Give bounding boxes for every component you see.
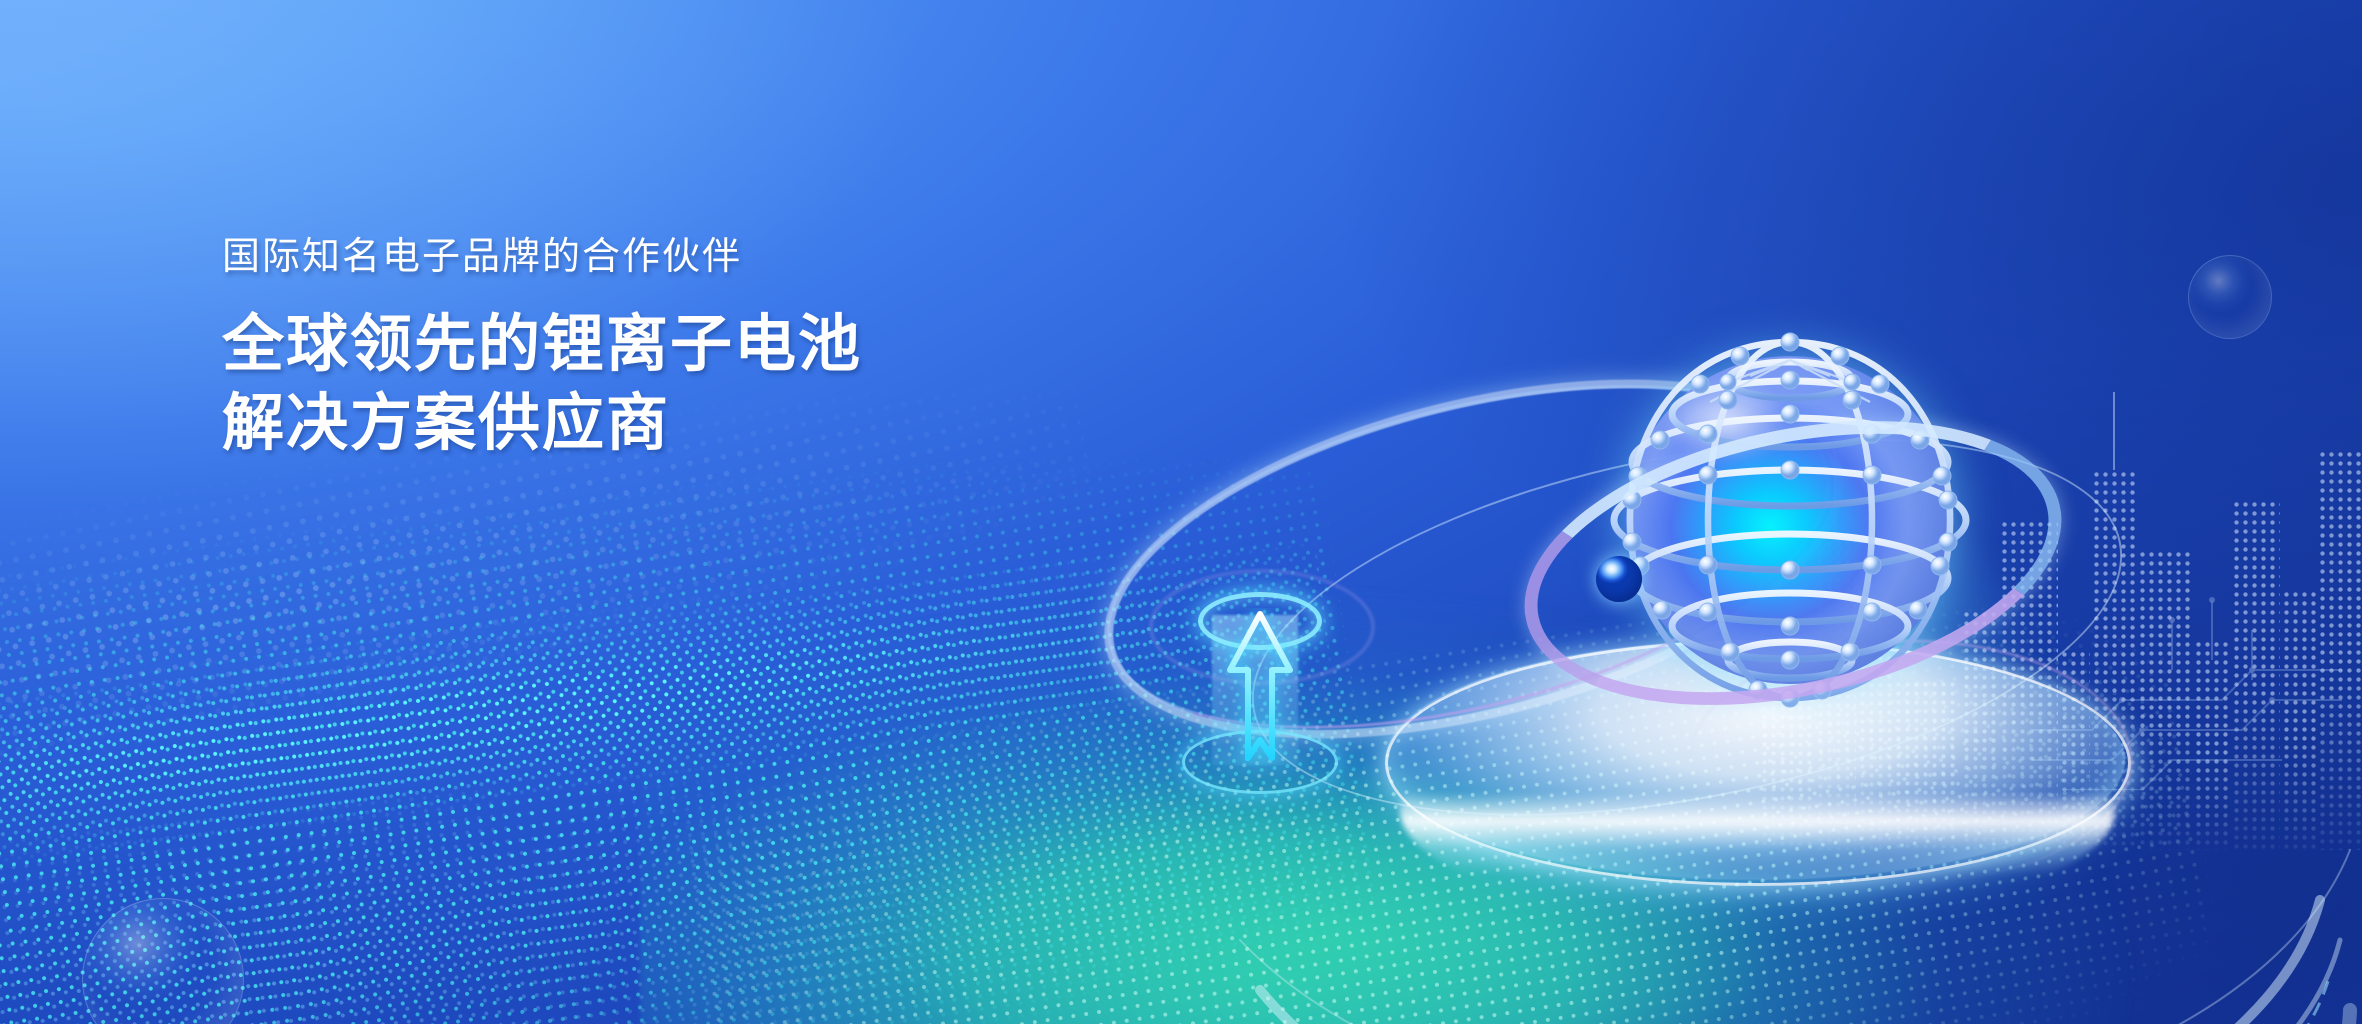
- banner-headline-line2: 解决方案供应商: [222, 385, 862, 464]
- hero-banner: 国际知名电子品牌的合作伙伴 全球领先的锂离子电池 解决方案供应商: [0, 0, 2362, 1024]
- orbit-sphere-bead: [1596, 556, 1642, 602]
- banner-copy: 国际知名电子品牌的合作伙伴 全球领先的锂离子电池 解决方案供应商: [222, 238, 862, 463]
- glowing-up-arrow-icon: [1214, 608, 1306, 766]
- translucent-bubble-top-right: [2188, 255, 2272, 339]
- banner-subtitle: 国际知名电子品牌的合作伙伴: [222, 238, 862, 276]
- banner-headline-line1: 全球领先的锂离子电池: [222, 306, 862, 385]
